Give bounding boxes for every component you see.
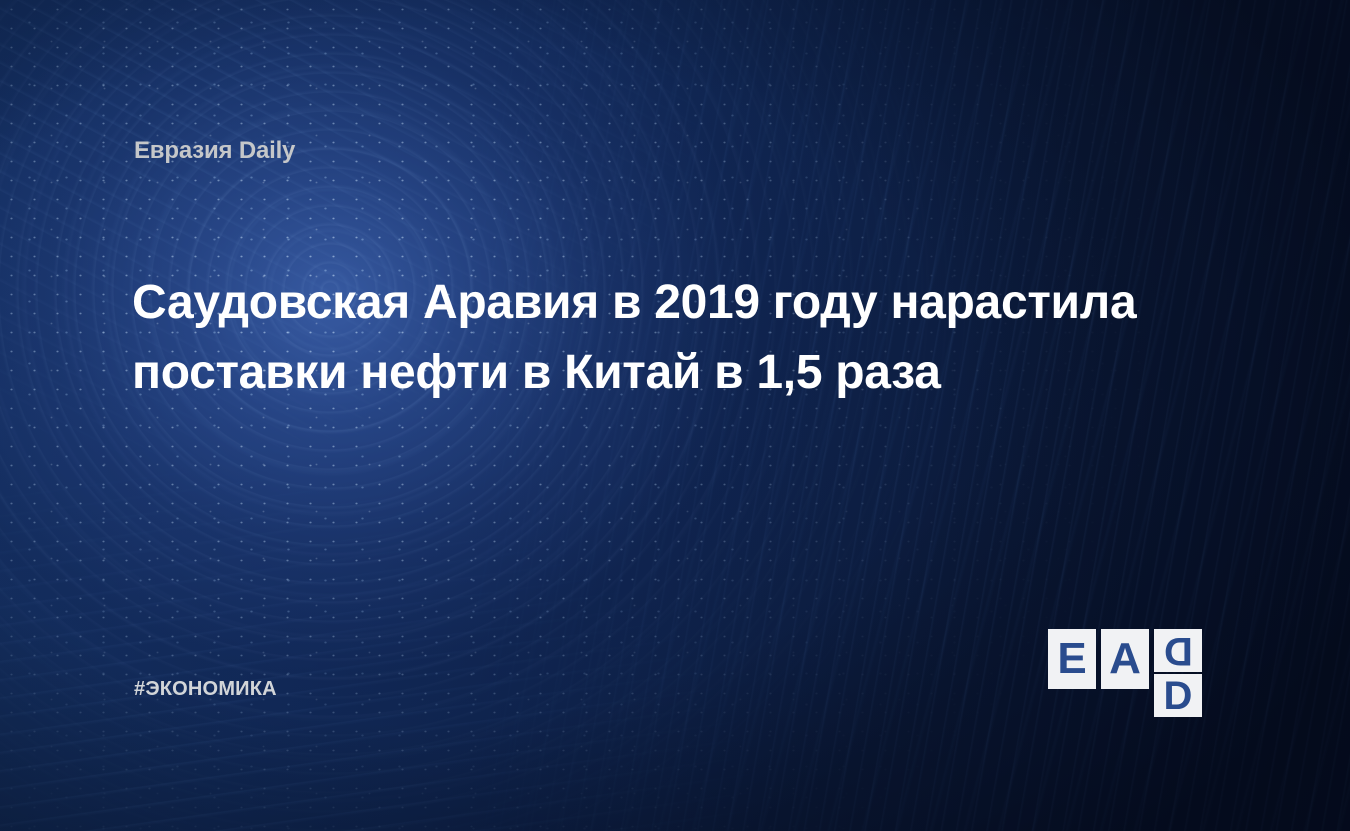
logo-tile-d-rotated-letter: D bbox=[1164, 631, 1193, 671]
logo-tile-d: D bbox=[1154, 674, 1202, 717]
category-hashtag: #ЭКОНОМИКА bbox=[134, 678, 277, 701]
logo-stack-d: D D bbox=[1154, 629, 1202, 717]
logo-tile-d-letter: D bbox=[1164, 676, 1193, 716]
logo-tile-e: E bbox=[1048, 629, 1096, 689]
publication-name: Евразия Daily bbox=[134, 137, 295, 165]
logo-tile-d-rotated: D bbox=[1154, 629, 1202, 672]
headline: Саудовская Аравия в 2019 году нарастила … bbox=[132, 268, 1242, 408]
social-share-card: Евразия Daily Саудовская Аравия в 2019 г… bbox=[0, 0, 1350, 831]
eadaily-logo: E A D D bbox=[1048, 629, 1202, 717]
logo-tile-a: A bbox=[1101, 629, 1149, 689]
card-content: Евразия Daily Саудовская Аравия в 2019 г… bbox=[0, 0, 1350, 831]
